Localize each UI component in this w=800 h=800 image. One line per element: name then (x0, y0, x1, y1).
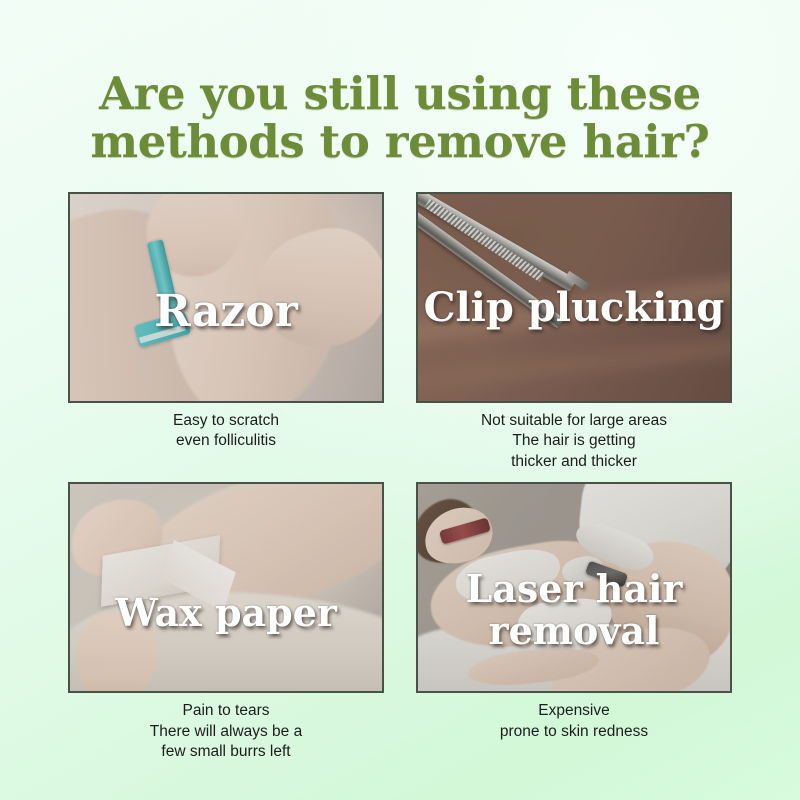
laser-hair-removal-photo: Laser hair removal (416, 482, 732, 693)
infographic-poster: Are you still using these methods to rem… (0, 0, 800, 800)
method-card-wax-paper: Wax paper Pain to tears There will alway… (68, 482, 384, 762)
wax-paper-caption-line-1: Pain to tears (68, 701, 384, 721)
razor-caption-line-1: Easy to scratch (68, 411, 384, 431)
method-card-razor: Razor Easy to scratch even folliculitis (68, 192, 384, 472)
laser-hair-removal-caption-line-2: prone to skin redness (416, 722, 732, 742)
clip-plucking-caption: Not suitable for large areas The hair is… (416, 411, 732, 472)
wax-paper-caption-line-2: There will always be a (68, 722, 384, 742)
page-title-line-1: Are you still using these (60, 70, 740, 118)
page-title-line-2: methods to remove hair? (60, 118, 740, 166)
laser-hair-removal-illustration (418, 484, 730, 691)
clip-plucking-caption-line-2: The hair is getting (416, 431, 732, 451)
razor-caption: Easy to scratch even folliculitis (68, 411, 384, 452)
page-title: Are you still using these methods to rem… (0, 70, 800, 165)
razor-illustration (70, 194, 382, 401)
clip-plucking-photo: Clip plucking (416, 192, 732, 403)
clip-plucking-illustration (418, 194, 730, 401)
wax-paper-photo: Wax paper (68, 482, 384, 693)
razor-caption-line-2: even folliculitis (68, 431, 384, 451)
wax-paper-illustration (70, 484, 382, 691)
laser-hair-removal-caption-line-1: Expensive (416, 701, 732, 721)
clip-plucking-caption-line-3: thicker and thicker (416, 452, 732, 472)
razor-photo: Razor (68, 192, 384, 403)
wax-paper-caption: Pain to tears There will always be a few… (68, 701, 384, 762)
laser-hair-removal-caption: Expensive prone to skin redness (416, 701, 732, 742)
method-card-laser-hair-removal: Laser hair removal Expensive prone to sk… (416, 482, 732, 762)
method-card-clip-plucking: Clip plucking Not suitable for large are… (416, 192, 732, 472)
clip-plucking-caption-line-1: Not suitable for large areas (416, 411, 732, 431)
wax-paper-caption-line-3: few small burrs left (68, 742, 384, 762)
methods-grid: Razor Easy to scratch even folliculitis (68, 192, 732, 763)
